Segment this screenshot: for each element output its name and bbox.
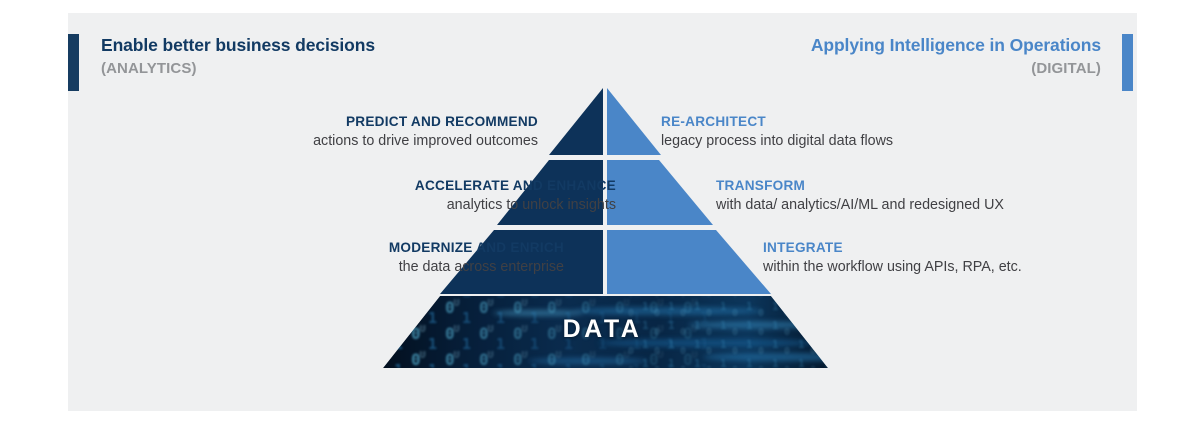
label-description: the data across enterprise — [389, 258, 564, 277]
label-description: actions to drive improved outcomes — [313, 132, 538, 151]
label-modernize-and-enrich: MODERNIZE AND ENRICH the data across ent… — [389, 239, 564, 278]
label-re-architect: RE-ARCHITECT legacy process into digital… — [661, 113, 893, 152]
label-heading: TRANSFORM — [716, 177, 1004, 195]
label-integrate: INTEGRATE within the workflow using APIs… — [763, 239, 1022, 278]
tier1-right-face — [607, 88, 661, 155]
label-accelerate-and-enhance: ACCELERATE AND ENHANCE analytics to unlo… — [415, 177, 616, 216]
label-transform: TRANSFORM with data/ analytics/AI/ML and… — [716, 177, 1004, 216]
label-description: within the workflow using APIs, RPA, etc… — [763, 258, 1022, 277]
tier3-right-face — [607, 230, 771, 294]
base-separator — [383, 294, 828, 296]
label-description: analytics to unlock insights — [415, 196, 616, 215]
label-description: legacy process into digital data flows — [661, 132, 893, 151]
label-predict-and-recommend: PREDICT AND RECOMMEND actions to drive i… — [313, 113, 538, 152]
label-heading: MODERNIZE AND ENRICH — [389, 239, 564, 257]
label-heading: PREDICT AND RECOMMEND — [313, 113, 538, 131]
label-heading: RE-ARCHITECT — [661, 113, 893, 131]
label-heading: ACCELERATE AND ENHANCE — [415, 177, 616, 195]
label-heading: INTEGRATE — [763, 239, 1022, 257]
tier2-right-face — [607, 160, 713, 225]
pyramid-base — [383, 296, 873, 368]
diagram-canvas: Enable better business decisions (ANALYT… — [0, 0, 1200, 426]
tier1-left-face — [549, 88, 603, 155]
label-description: with data/ analytics/AI/ML and redesigne… — [716, 196, 1004, 215]
diagram-card: Enable better business decisions (ANALYT… — [68, 13, 1137, 411]
